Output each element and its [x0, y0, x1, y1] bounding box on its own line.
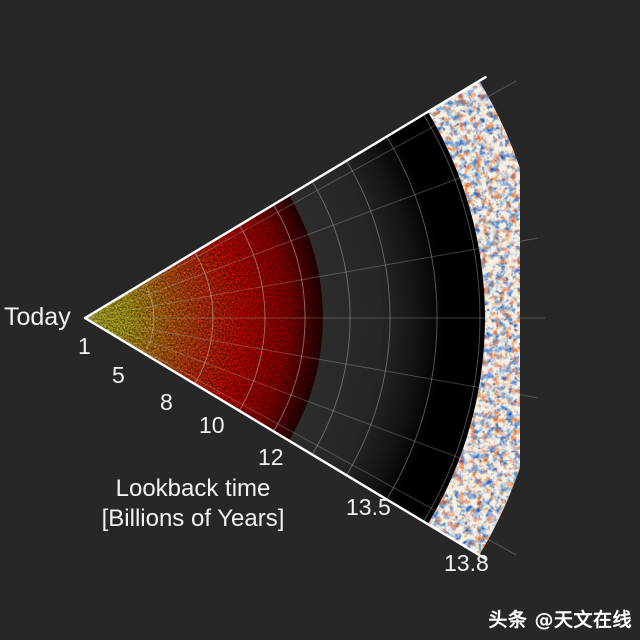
tick-label-12: 12 [258, 444, 284, 471]
tick-label-1: 1 [78, 333, 91, 360]
tick-label-8: 8 [160, 389, 173, 416]
tick-label-5: 5 [112, 362, 125, 389]
today-label: Today [4, 303, 71, 332]
watermark: 头条 @天文在线 [488, 605, 632, 632]
lookback-wedge-diagram [0, 0, 640, 640]
axis-title-line-1: Lookback time [116, 475, 271, 502]
axis-title: Lookback time [Billions of Years] [88, 474, 298, 534]
figure-canvas: Today 1 5 8 10 12 13.5 13.8 Lookback tim… [0, 0, 640, 640]
tick-label-10: 10 [199, 412, 225, 439]
axis-title-line-2: [Billions of Years] [88, 504, 298, 534]
tick-label-13-8: 13.8 [444, 550, 489, 577]
tick-label-13-5: 13.5 [346, 494, 391, 521]
